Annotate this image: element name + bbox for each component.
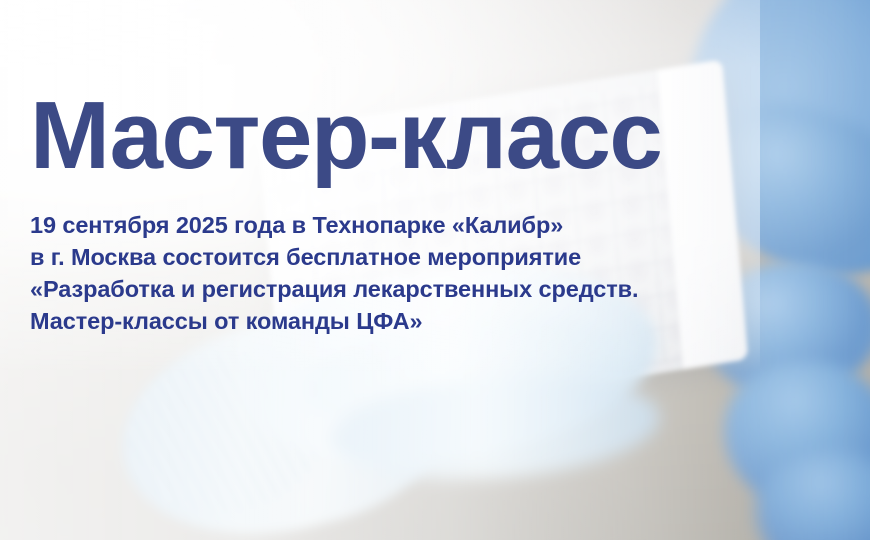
- event-description-line-4: Мастер-классы от команды ЦФА»: [30, 305, 638, 337]
- poster: Мастер-класс 19 сентября 2025 года в Тех…: [0, 0, 870, 540]
- event-description-line-3: «Разработка и регистрация лекарственных …: [30, 273, 638, 305]
- event-description-line-2: в г. Москва состоится бесплатное меропри…: [30, 241, 638, 273]
- poster-content: Мастер-класс 19 сентября 2025 года в Тех…: [0, 0, 870, 540]
- event-description-line-1: 19 сентября 2025 года в Технопарке «Кали…: [30, 209, 638, 241]
- page-title: Мастер-класс: [30, 88, 661, 184]
- event-description: 19 сентября 2025 года в Технопарке «Кали…: [30, 209, 638, 337]
